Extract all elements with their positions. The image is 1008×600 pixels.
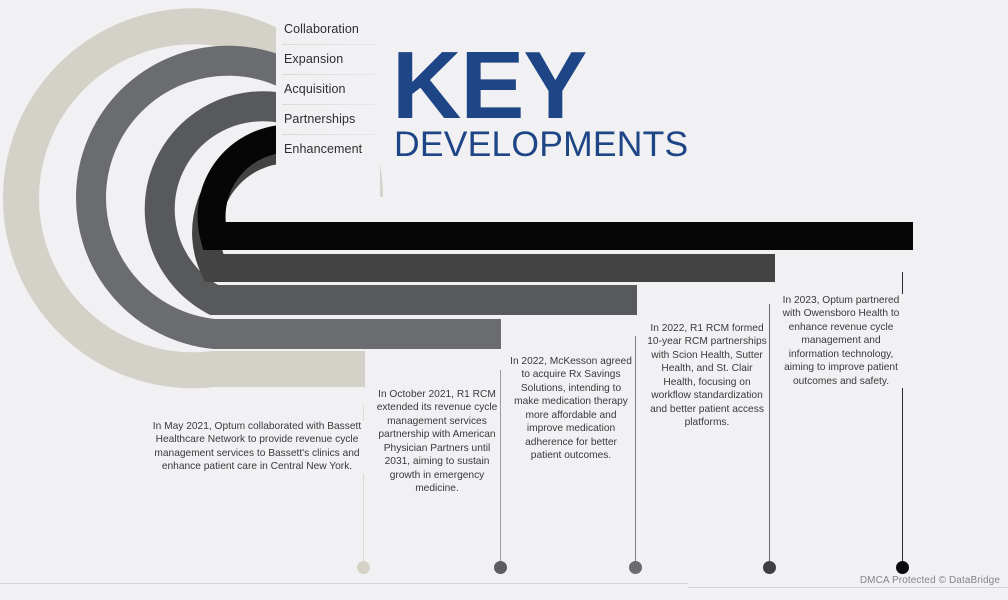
- legend-item-partnerships[interactable]: Partnerships: [276, 104, 380, 134]
- timeline-dot-acquisition[interactable]: [629, 561, 642, 574]
- callout-text-expansion: In October 2021, R1 RCM extended its rev…: [376, 388, 498, 496]
- legend-label-expansion: Expansion: [284, 52, 343, 66]
- callout-acquisition: In 2022, McKesson agreed to acquire Rx S…: [510, 355, 632, 463]
- stem-acquisition: [635, 336, 636, 567]
- title-subtitle: DEVELOPMENTS: [394, 127, 688, 163]
- timeline-dot-enhancement[interactable]: [896, 561, 909, 574]
- legend-label-collaboration: Collaboration: [284, 22, 359, 36]
- callout-text-enhancement: In 2023, Optum partnered with Owensboro …: [778, 294, 904, 388]
- legend-item-collaboration[interactable]: Collaboration: [276, 14, 380, 44]
- legend-label-partnerships: Partnerships: [284, 112, 355, 126]
- timeline-dot-collaboration[interactable]: [357, 561, 370, 574]
- legend-item-expansion[interactable]: Expansion: [276, 44, 380, 74]
- stem-partnerships: [769, 304, 770, 567]
- baseline-left: [0, 583, 688, 584]
- callout-text-partnerships: In 2022, R1 RCM formed 10-year RCM partn…: [645, 322, 769, 430]
- callout-text-collaboration: In May 2021, Optum collaborated with Bas…: [146, 420, 368, 474]
- legend-panel: Collaboration Expansion Acquisition Part…: [276, 14, 380, 210]
- legend-label-enhancement: Enhancement: [284, 142, 362, 156]
- callout-partnerships: In 2022, R1 RCM formed 10-year RCM partn…: [645, 322, 769, 430]
- stem-expansion: [500, 370, 501, 567]
- callout-text-acquisition: In 2022, McKesson agreed to acquire Rx S…: [510, 355, 632, 463]
- callout-enhancement: In 2023, Optum partnered with Owensboro …: [778, 294, 904, 388]
- baseline-right: [688, 587, 1008, 588]
- title-main: KEY: [392, 40, 688, 131]
- footer-watermark: DMCA Protected © DataBridge: [860, 575, 1000, 586]
- callout-collaboration: In May 2021, Optum collaborated with Bas…: [146, 420, 368, 474]
- timeline-dot-expansion[interactable]: [494, 561, 507, 574]
- callout-expansion: In October 2021, R1 RCM extended its rev…: [376, 388, 498, 496]
- legend-item-acquisition[interactable]: Acquisition: [276, 74, 380, 104]
- legend-item-enhancement[interactable]: Enhancement: [276, 134, 380, 164]
- timeline-dot-partnerships[interactable]: [763, 561, 776, 574]
- infographic-canvas: Collaboration Expansion Acquisition Part…: [0, 0, 1008, 600]
- legend-label-acquisition: Acquisition: [284, 82, 346, 96]
- page-title: KEY DEVELOPMENTS: [392, 40, 688, 163]
